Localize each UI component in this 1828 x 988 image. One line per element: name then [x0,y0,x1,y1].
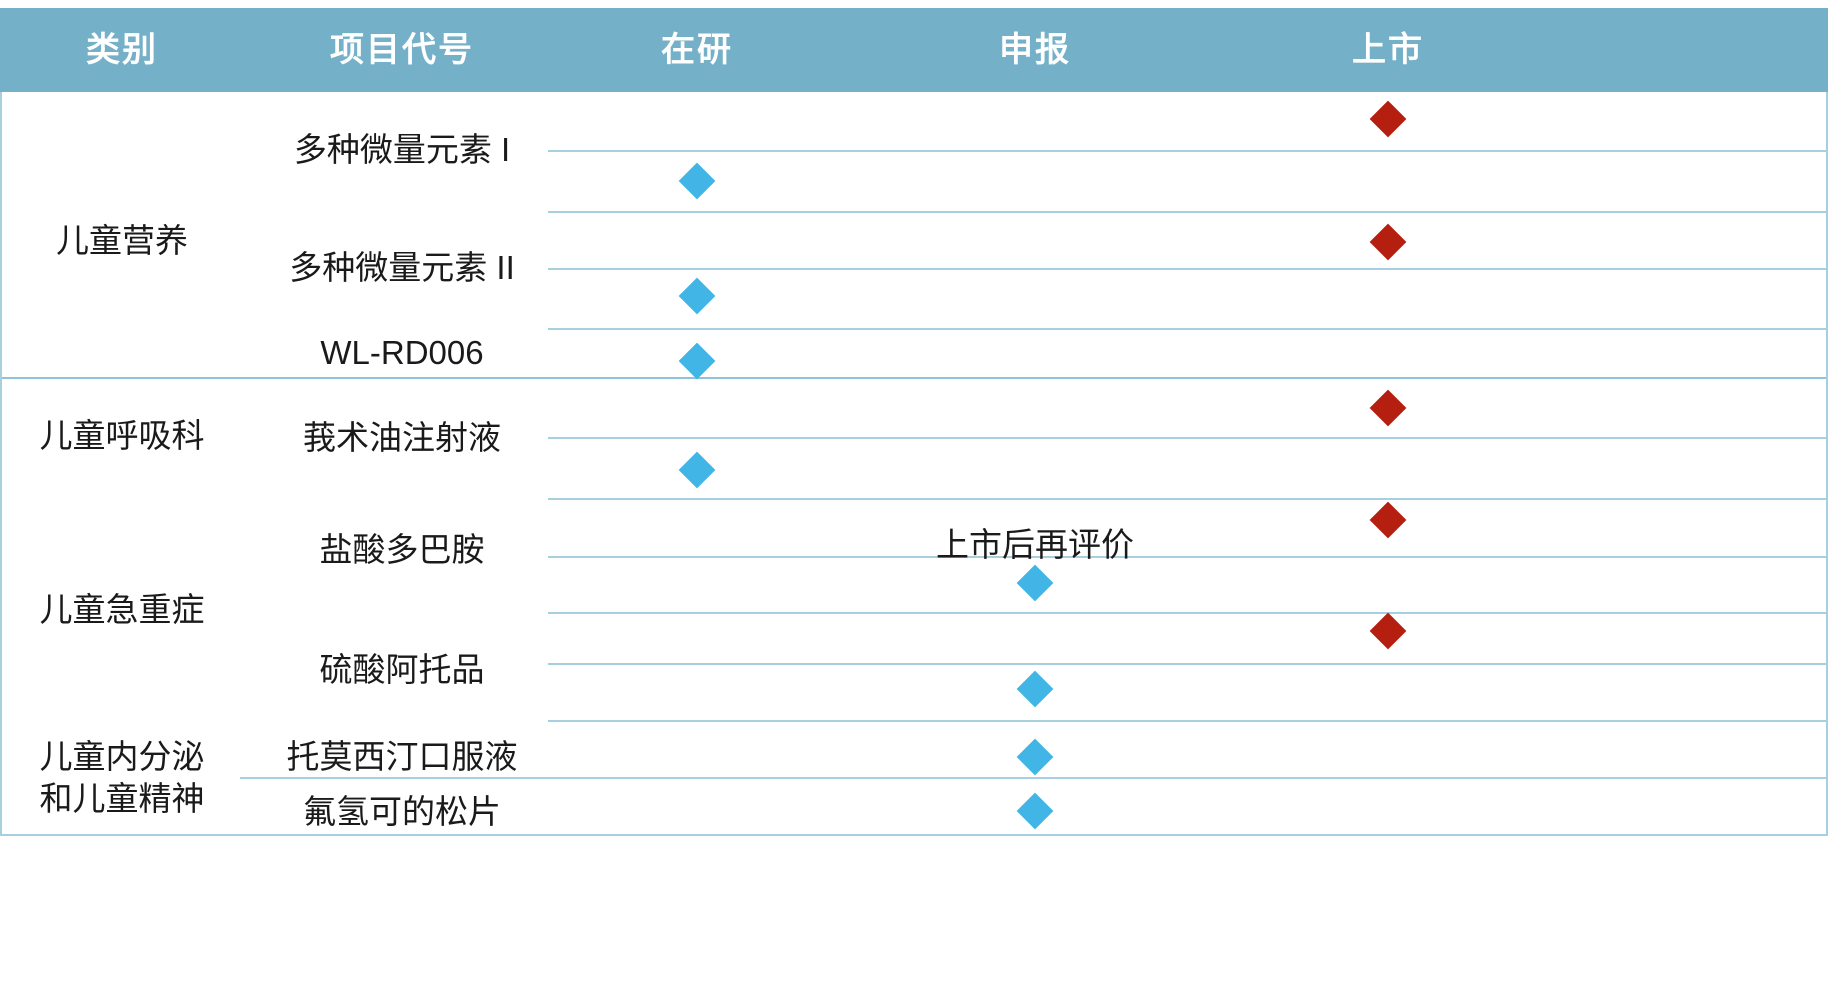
table-border-rule [0,92,2,836]
diamond-icon [679,452,716,489]
row-separator-line [548,211,1828,213]
row-separator-line [240,777,1828,779]
stage-note-label: 上市后再评价 [936,525,1134,565]
row-separator-line [548,556,1828,558]
column-header-category: 类别 [0,8,252,92]
column-header-market: 上市 [1218,8,1558,92]
diamond-icon [1017,793,1054,830]
diamond-icon [1017,671,1054,708]
column-header-project: 项目代号 [232,8,572,92]
diamond-icon [1017,739,1054,776]
row-separator-line [548,437,1828,439]
row-separator-line [548,268,1828,270]
diamond-icon [1370,224,1407,261]
project-label: 莪术油注射液 [232,418,572,458]
project-label: 多种微量元素 I [232,130,572,170]
row-separator-line [548,498,1828,500]
diamond-icon [679,343,716,380]
row-separator-line [548,328,1828,330]
group-separator-line [0,377,1828,379]
project-label: 盐酸多巴胺 [232,530,572,570]
project-label: 多种微量元素 II [232,248,572,288]
diamond-icon [1370,613,1407,650]
project-label: WL-RD006 [232,333,572,373]
diamond-icon [1370,390,1407,427]
project-label: 氟氢可的松片 [232,792,572,832]
column-header-filing: 申报 [865,8,1205,92]
column-header-research: 在研 [547,8,847,92]
row-separator-line [548,663,1828,665]
row-separator-line [0,834,1828,836]
row-separator-line [548,720,1828,722]
product-pipeline-table: 类别项目代号在研申报上市 儿童营养儿童呼吸科儿童急重症儿童内分泌 和儿童精神 多… [0,0,1828,988]
category-label: 儿童呼吸科 [0,415,252,457]
category-label: 儿童内分泌 和儿童精神 [0,736,252,820]
diamond-icon [679,278,716,315]
row-separator-line [548,612,1828,614]
diamond-icon [679,163,716,200]
project-label: 硫酸阿托品 [232,650,572,690]
diamond-icon [1370,101,1407,138]
category-label: 儿童急重症 [0,589,252,631]
project-label: 托莫西汀口服液 [232,737,572,777]
category-label: 儿童营养 [0,220,252,262]
diamond-icon [1017,565,1054,602]
row-separator-line [548,150,1828,152]
diamond-icon [1370,502,1407,539]
